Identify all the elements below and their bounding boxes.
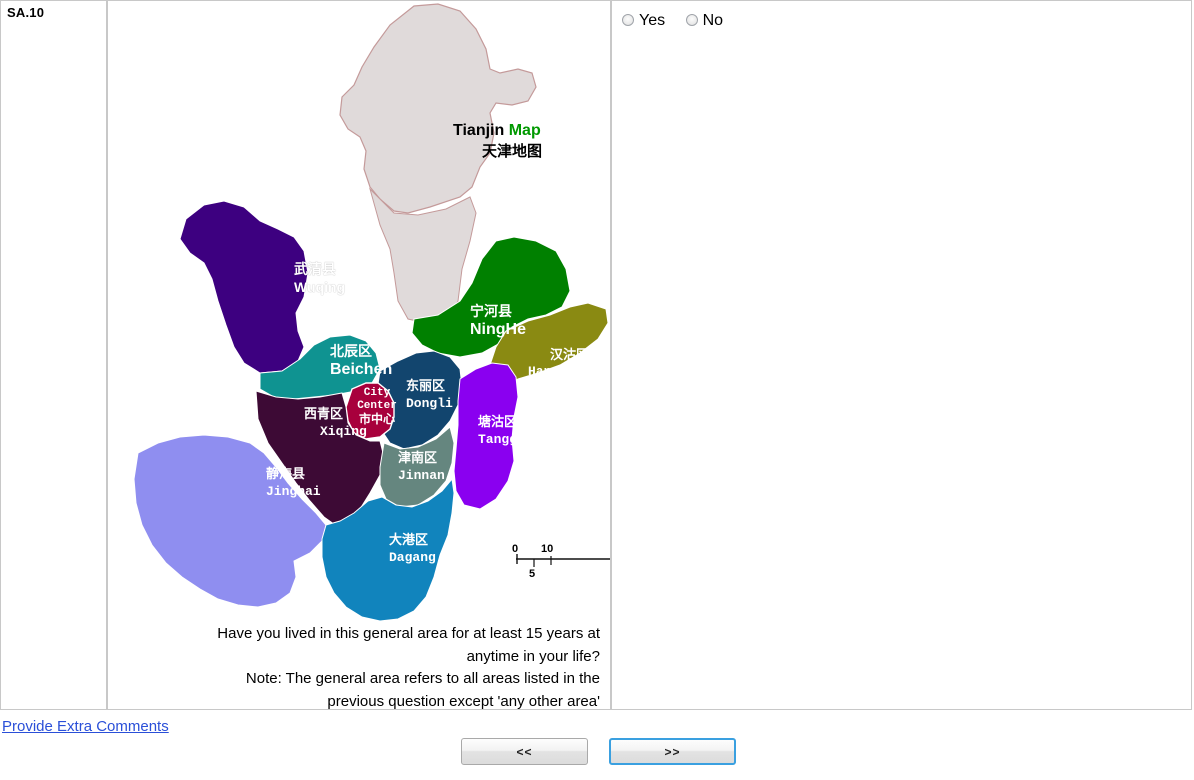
region-north-shape [340, 4, 536, 213]
provide-extra-comments-link[interactable]: Provide Extra Comments [2, 718, 169, 735]
navigation-buttons: << >> [0, 738, 1194, 768]
region-label-tanggu-en: Tanggu [478, 432, 525, 447]
answer-label-yes: Yes [639, 12, 665, 29]
map-title-en-green: Map [509, 122, 541, 139]
region-label-ninghe: 宁河县 NingHe [470, 301, 526, 339]
question-code: SA.10 [7, 5, 100, 20]
scale-label-10: 10 [541, 543, 553, 555]
region-label-beichen-cn: 北辰区 [330, 343, 372, 359]
region-label-dagang: 大港区 Dagang [389, 531, 436, 566]
region-label-hangu-cn: 汉沽区 [550, 347, 589, 362]
map-title-cn-green: 地图 [512, 143, 542, 160]
map-title: Tianjin Map [453, 119, 541, 142]
question-text-line-3: Note: The general area refers to all are… [246, 670, 600, 687]
region-label-wuqing-cn: 武清县 [294, 261, 336, 277]
question-text: Have you lived in this general area for … [116, 623, 600, 713]
region-label-jinnan-cn: 津南区 [398, 450, 437, 465]
answer-options-cell: Yes No [611, 0, 1192, 710]
scale-bar: 0 10 50 5 km [508, 539, 610, 583]
region-label-beichen-en: Beichen [330, 361, 392, 378]
region-label-dagang-en: Dagang [389, 550, 436, 565]
map-title-cn-black: 天津 [482, 143, 512, 160]
map-title-en-black: Tianjin [453, 122, 504, 139]
tianjin-map: 武清县 Wuqing 宁河县 NingHe 汉沽区 Hangu 北辰区 Beic… [108, 1, 610, 626]
radio-no[interactable] [686, 14, 698, 26]
region-label-dongli-cn: 东丽区 [406, 378, 445, 393]
question-text-line-4: previous question except 'any other area… [327, 693, 600, 710]
next-button[interactable]: >> [609, 738, 736, 765]
answer-label-no: No [703, 12, 723, 29]
region-label-hangu-en: Hangu [528, 364, 567, 379]
region-label-hangu: 汉沽区 Hangu [528, 347, 589, 380]
region-label-dagang-cn: 大港区 [389, 532, 428, 547]
region-label-jinnan: 津南区 Jinnan [398, 449, 445, 484]
radio-yes[interactable] [622, 14, 634, 26]
previous-button[interactable]: << [461, 738, 588, 765]
region-label-wuqing-en: Wuqing [294, 279, 345, 295]
region-label-tanggu: 塘沽区 Tanggu [478, 413, 525, 448]
region-label-jinghai: 静海县 Jinghai [266, 465, 321, 500]
answer-option-no[interactable]: No [686, 12, 723, 30]
region-label-wuqing: 武清县 Wuqing [294, 259, 345, 295]
region-label-jinghai-en: Jinghai [266, 484, 321, 499]
region-label-xiqing-cn: 西青区 [304, 406, 343, 421]
scale-label-5: 5 [529, 568, 535, 580]
region-label-ninghe-cn: 宁河县 [470, 303, 512, 319]
question-text-line-2: anytime in your life? [467, 648, 600, 665]
scale-label-0: 0 [512, 543, 518, 555]
region-label-xiqing-en: Xiqing [320, 424, 367, 439]
question-text-line-1: Have you lived in this general area for … [217, 625, 600, 642]
question-content-cell: 武清县 Wuqing 宁河县 NingHe 汉沽区 Hangu 北辰区 Beic… [107, 0, 611, 710]
region-label-tanggu-cn: 塘沽区 [478, 414, 517, 429]
region-label-ninghe-en: NingHe [470, 321, 526, 338]
region-label-jinnan-en: Jinnan [398, 468, 445, 483]
map-title-cn: 天津地图 [482, 142, 542, 162]
answer-option-yes[interactable]: Yes [622, 12, 665, 30]
survey-question-table: SA.10 [0, 0, 1192, 710]
region-label-dongli-en: Dongli [406, 396, 453, 411]
region-label-dongli: 东丽区 Dongli [406, 377, 453, 412]
map-graphic [108, 1, 610, 626]
region-label-beichen: 北辰区 Beichen [330, 341, 392, 379]
region-label-jinghai-cn: 静海县 [266, 466, 305, 481]
answer-options: Yes No [622, 7, 1181, 30]
region-label-xiqing: 西青区 Xiqing [304, 405, 367, 440]
region-wuqing-shape [180, 201, 308, 373]
question-code-cell: SA.10 [0, 0, 107, 710]
